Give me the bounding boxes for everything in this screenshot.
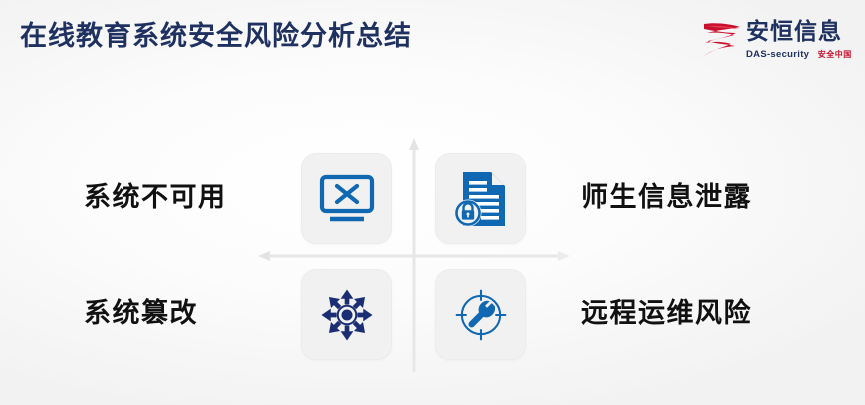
page-title: 在线教育系统安全风险分析总结 — [20, 20, 412, 54]
horizontal-axis-arrowhead-right — [558, 251, 570, 261]
quadrant-label-bottom-left: 系统篡改 — [84, 300, 198, 327]
logo-tagline-cn: 安全中国 — [818, 50, 852, 59]
document-lock-icon — [453, 170, 509, 228]
quadrant-label-top-left: 系统不可用 — [84, 184, 227, 211]
slide-canvas: 在线教育系统安全风险分析总结 安恒信息 DAS-security 安全中国 系统… — [0, 0, 865, 405]
brand-logo: 安恒信息 DAS-security 安全中国 — [701, 18, 851, 68]
das-swoosh-icon — [701, 20, 743, 60]
monitor-error-icon — [318, 173, 376, 225]
logo-brand-cn: 安恒信息 — [746, 18, 851, 44]
logo-subtitle: DAS-security 安全中国 — [746, 45, 851, 61]
logo-brand-en: DAS-security — [746, 49, 809, 60]
quadrant-card-top-left[interactable] — [301, 153, 392, 244]
quadrant-label-top-right: 师生信息泄露 — [581, 184, 752, 211]
quadrant-card-bottom-left[interactable] — [301, 269, 392, 360]
wrench-crosshair-icon — [452, 286, 510, 344]
quadrant-card-bottom-right[interactable] — [435, 269, 526, 360]
radial-arrows-target-icon — [318, 286, 376, 344]
quadrant-card-grid — [301, 153, 524, 358]
quadrant-card-top-right[interactable] — [435, 153, 526, 244]
vertical-axis-arrowhead-up — [409, 138, 419, 150]
logo-text-block: 安恒信息 DAS-security 安全中国 — [746, 18, 851, 61]
horizontal-axis-arrowhead-left — [258, 251, 270, 261]
quadrant-label-bottom-right: 远程运维风险 — [581, 300, 752, 327]
